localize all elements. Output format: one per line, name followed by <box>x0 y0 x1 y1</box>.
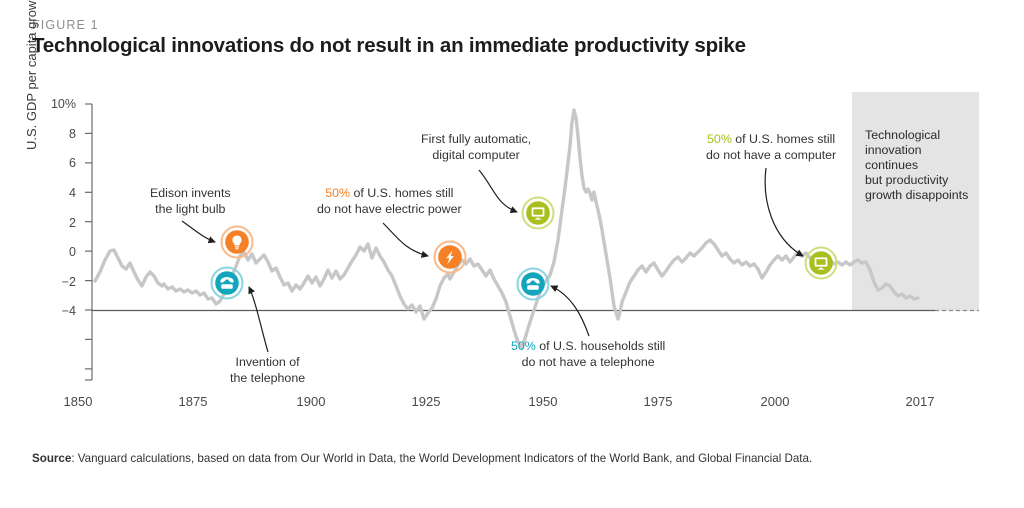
annotation-computer-penetration: 50% of U.S. homes still do not have a co… <box>706 132 836 163</box>
shaded-note-line5: growth disappoints <box>865 188 968 203</box>
arrow-light-bulb <box>182 221 215 242</box>
computer-penetration-pct: 50% <box>707 132 732 146</box>
annotation-computer-penetration-line2: do not have a computer <box>706 148 836 164</box>
annotation-electric-power: 50% of U.S. homes still do not have elec… <box>317 186 462 217</box>
annotation-light-bulb-line1: Edison invents <box>150 186 231 202</box>
source-note: Source: Vanguard calculations, based on … <box>32 452 812 465</box>
annotation-telephone-invention-line1: Invention of <box>230 355 305 371</box>
annotation-light-bulb: Edison invents the light bulb <box>150 186 231 217</box>
y-axis-ticks <box>85 104 92 380</box>
marker-telephone-penetration[interactable] <box>518 269 549 300</box>
annotation-telephone-penetration-line1: 50% of U.S. households still <box>511 339 665 355</box>
annotation-telephone-penetration-line2: do not have a telephone <box>511 355 665 371</box>
marker-light-bulb[interactable] <box>222 227 253 258</box>
annotation-digital-computer: First fully automatic, digital computer <box>421 132 531 163</box>
marker-computer-penetration[interactable] <box>806 248 837 279</box>
annotation-digital-computer-line1: First fully automatic, <box>421 132 531 148</box>
electric-power-pct: 50% <box>325 186 350 200</box>
arrow-telephone-invention <box>249 287 268 352</box>
annotation-light-bulb-line2: the light bulb <box>150 202 231 218</box>
shaded-note-line3: continues <box>865 158 968 173</box>
figure-container: FIGURE 1 Technological innovations do no… <box>0 0 1024 508</box>
annotation-telephone-invention: Invention of the telephone <box>230 355 305 386</box>
source-label: Source <box>32 452 71 465</box>
telephone-penetration-line1-rest: of U.S. households still <box>536 339 665 353</box>
telephone-penetration-pct: 50% <box>511 339 536 353</box>
arrow-digital-computer <box>479 170 517 212</box>
annotation-digital-computer-line2: digital computer <box>421 148 531 164</box>
annotation-electric-power-line2: do not have electric power <box>317 202 462 218</box>
figure-kicker: FIGURE 1 <box>32 18 99 32</box>
electric-power-line1-rest: of U.S. homes still <box>350 186 453 200</box>
marker-digital-computer[interactable] <box>523 198 554 229</box>
annotation-electric-power-line1: 50% of U.S. homes still <box>317 186 462 202</box>
marker-electric-power[interactable] <box>435 242 466 273</box>
shaded-note-line4: but productivity <box>865 173 968 188</box>
annotation-shaded-note: Technological innovation continues but p… <box>865 128 968 203</box>
plot-area: Edison invents the light bulb Invention … <box>0 80 1024 420</box>
shaded-note-line1: Technological <box>865 128 968 143</box>
annotation-telephone-penetration: 50% of U.S. households still do not have… <box>511 339 665 370</box>
marker-telephone-invention[interactable] <box>212 268 243 299</box>
arrow-computer-penetration <box>765 168 803 256</box>
computer-penetration-line1-rest: of U.S. homes still <box>732 132 835 146</box>
annotation-computer-penetration-line1: 50% of U.S. homes still <box>706 132 836 148</box>
shaded-note-line2: innovation <box>865 143 968 158</box>
arrow-electric-power <box>383 223 428 256</box>
annotation-telephone-invention-line2: the telephone <box>230 371 305 387</box>
source-text: : Vanguard calculations, based on data f… <box>71 452 812 465</box>
figure-title: Technological innovations do not result … <box>32 34 746 58</box>
